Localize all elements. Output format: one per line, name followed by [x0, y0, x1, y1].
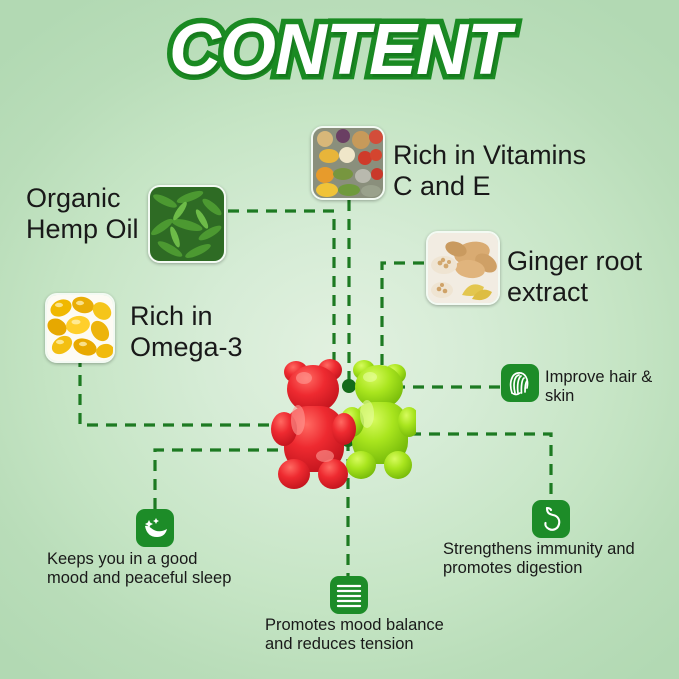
hair-icon [501, 364, 539, 402]
benefit-label-sleep: Keeps you in a good mood and peaceful sl… [47, 550, 277, 587]
fish-oil-capsules-photo [45, 293, 115, 363]
ingredient-label-omega3: Rich in Omega-3 [130, 301, 310, 362]
moon-stars-icon [136, 509, 174, 547]
gummy-bear-red [271, 359, 356, 489]
benefit-label-hair-skin: Improve hair & skin [545, 368, 675, 405]
benefit-label-mood: Promotes mood balance and reduces tensio… [265, 616, 495, 653]
hemp-leaf-photo [148, 185, 226, 263]
gummy-bears [268, 344, 416, 494]
vegetables-photo [311, 126, 385, 200]
ginger-root-photo [426, 231, 500, 305]
infographic-canvas: CONTENT [0, 0, 679, 679]
stomach-icon [532, 500, 570, 538]
ingredient-label-hemp-oil: Organic Hemp Oil [26, 183, 151, 244]
ingredient-label-ginger: Ginger root extract [507, 246, 679, 307]
brain-icon [330, 576, 368, 614]
benefit-label-immunity: Strengthens immunity and promotes digest… [443, 540, 679, 577]
ingredient-label-vitamins: Rich in Vitamins C and E [393, 140, 643, 201]
